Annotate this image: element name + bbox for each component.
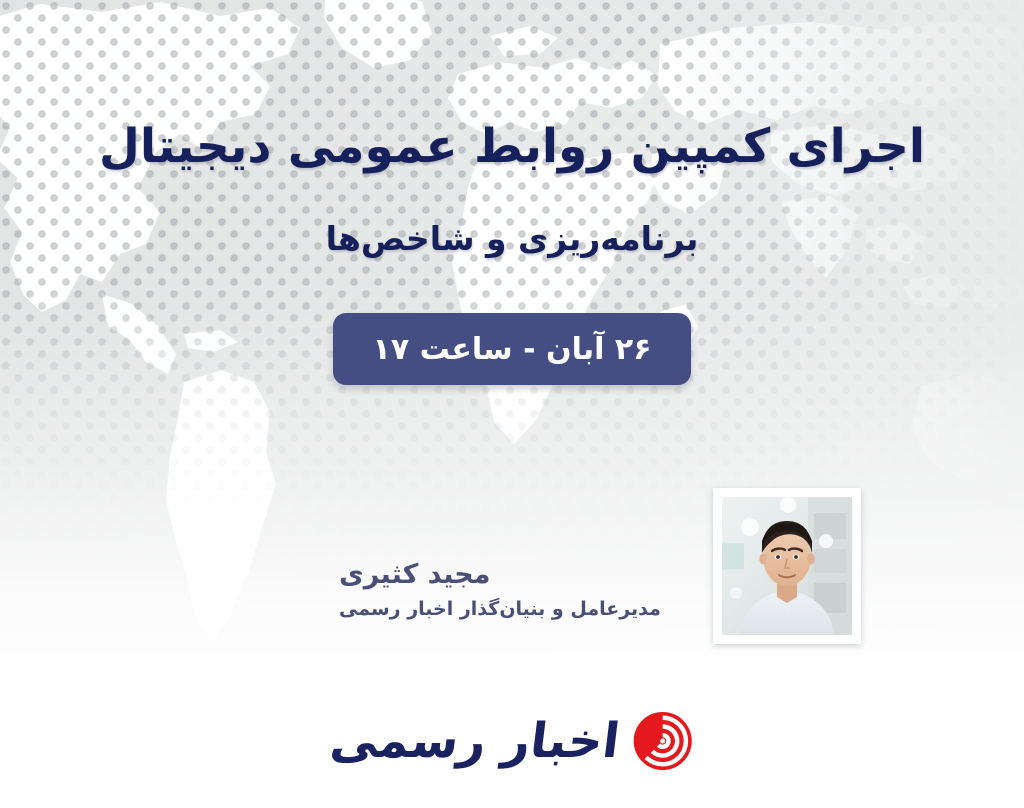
brand-logo: اخبار رسمی (331, 704, 694, 778)
speaker-avatar (722, 497, 852, 635)
speaker-name: مجید کثیری (339, 558, 699, 592)
poster-title: اجرای کمپین روابط عمومی دیجیتال (0, 118, 1024, 177)
brand-wordmark: اخبار رسمی (328, 717, 622, 765)
akhbar-rasmi-target-icon (631, 710, 693, 772)
poster-content: اجرای کمپین روابط عمومی دیجیتال برنامه‌ر… (0, 0, 1024, 808)
speaker-info: مجید کثیری مدیرعامل و بنیان‌گذار اخبار ر… (339, 558, 699, 621)
speaker-role: مدیرعامل و بنیان‌گذار اخبار رسمی (339, 597, 699, 622)
date-time-badge: ۲۶ آبان - ساعت ۱۷ (333, 313, 691, 385)
poster-subtitle: برنامه‌ریزی و شاخص‌ها (0, 218, 1024, 261)
date-time-badge-label: ۲۶ آبان - ساعت ۱۷ (373, 332, 652, 367)
speaker-block: مجید کثیری مدیرعامل و بنیان‌گذار اخبار ر… (0, 488, 1024, 648)
speaker-photo-frame (713, 488, 861, 644)
webinar-poster: اجرای کمپین روابط عمومی دیجیتال برنامه‌ر… (0, 0, 1024, 808)
